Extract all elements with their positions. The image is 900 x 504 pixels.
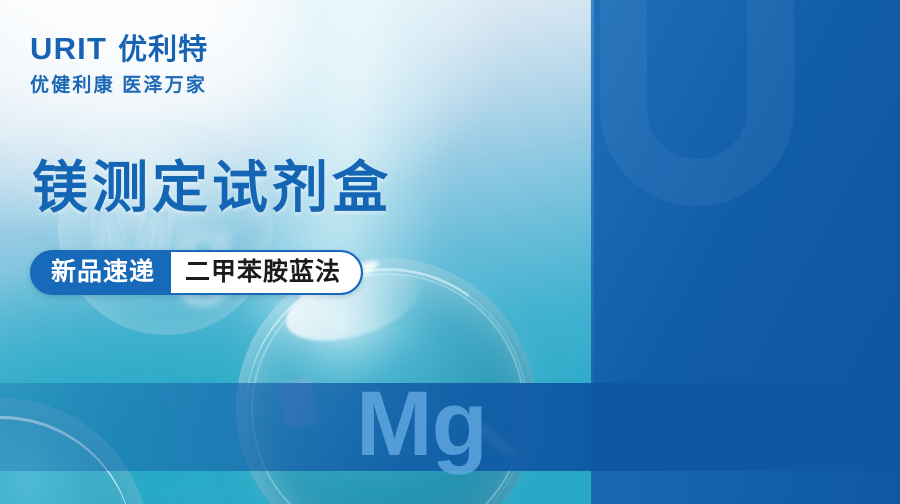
product-banner: Mg Mg URIT 优利特 优健利康 医泽万家 镁测定试剂盒 新品速递 二甲苯… (0, 0, 900, 504)
brand-logo-row: URIT 优利特 (30, 33, 208, 65)
brand-initial-u-icon (600, 0, 794, 206)
brand-name-cn: 优利特 (118, 36, 208, 65)
mg-watermark: Mg (356, 378, 487, 470)
right-blue-panel (591, 0, 900, 383)
bottom-right-strip (591, 471, 900, 504)
new-product-badge: 新品速递 二甲苯胺蓝法 (30, 250, 363, 295)
mg-band-text-wrap: Mg (0, 383, 900, 471)
brand-tagline: 优健利康 医泽万家 (30, 76, 208, 95)
page-title: 镁测定试剂盒 (32, 160, 392, 216)
right-panel-edge (591, 0, 594, 383)
badge-method-label: 二甲苯胺蓝法 (171, 252, 361, 293)
brand-logo: URIT 优利特 优健利康 医泽万家 (30, 33, 208, 95)
badge-tag-label: 新品速递 (32, 252, 171, 293)
brand-name-en: URIT (30, 33, 107, 64)
